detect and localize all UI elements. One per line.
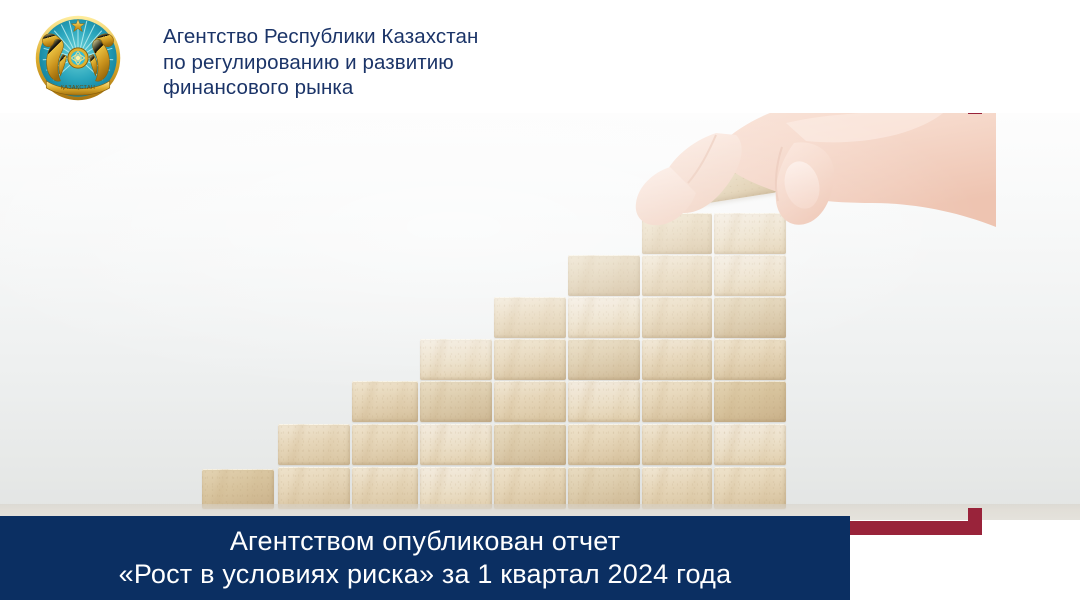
wooden-block	[202, 469, 274, 509]
accent-bar-bottom-horizontal	[850, 521, 982, 535]
wooden-block	[642, 213, 712, 254]
wooden-block	[642, 467, 712, 509]
wooden-block	[352, 467, 418, 509]
wooden-block	[642, 424, 712, 465]
site-header: ҚАЗАҚСТАН Агентство Республики Казахстан…	[0, 0, 1080, 113]
caption-line-1: Агентством опубликован отчет	[230, 525, 620, 558]
caption-line-2: «Рост в условиях риска» за 1 квартал 202…	[119, 558, 732, 591]
wooden-block	[494, 467, 566, 509]
wooden-block	[420, 467, 492, 509]
wooden-block	[714, 467, 786, 509]
wooden-block	[568, 424, 640, 465]
wooden-block	[494, 339, 566, 380]
hero-photo	[0, 113, 1080, 520]
banner-canvas: ҚАЗАҚСТАН Агентство Республики Казахстан…	[0, 0, 1080, 600]
wooden-blocks-staircase	[0, 113, 1080, 520]
agency-title: Агентство Республики Казахстан по регули…	[163, 24, 583, 101]
wooden-block	[714, 213, 786, 254]
wooden-block	[494, 424, 566, 465]
wooden-block	[568, 467, 640, 509]
wooden-block	[568, 297, 640, 338]
wooden-block	[352, 424, 418, 465]
wooden-block	[352, 381, 418, 422]
wooden-block	[494, 381, 566, 422]
wooden-block	[714, 339, 786, 380]
wooden-block	[642, 297, 712, 338]
wooden-block	[420, 424, 492, 465]
wooden-block	[642, 255, 712, 296]
wooden-block	[568, 255, 640, 296]
wooden-block	[420, 381, 492, 422]
caption-banner: Агентством опубликован отчет «Рост в усл…	[0, 516, 850, 600]
wooden-block	[494, 297, 566, 338]
wooden-block	[714, 381, 786, 422]
wooden-block	[278, 424, 350, 465]
kazakhstan-coat-of-arms-icon: ҚАЗАҚСТАН	[34, 14, 122, 102]
accent-bar-bottom-vertical	[968, 508, 982, 535]
wooden-block	[714, 255, 786, 296]
wooden-block	[642, 339, 712, 380]
wooden-block-in-hand	[686, 141, 777, 206]
emblem-inscription: ҚАЗАҚСТАН	[61, 85, 95, 91]
wooden-block	[714, 424, 786, 465]
wooden-block	[278, 467, 350, 509]
wooden-block	[714, 297, 786, 338]
wooden-block	[568, 339, 640, 380]
wooden-block	[568, 381, 640, 422]
wooden-block	[420, 339, 492, 380]
wooden-block	[642, 381, 712, 422]
